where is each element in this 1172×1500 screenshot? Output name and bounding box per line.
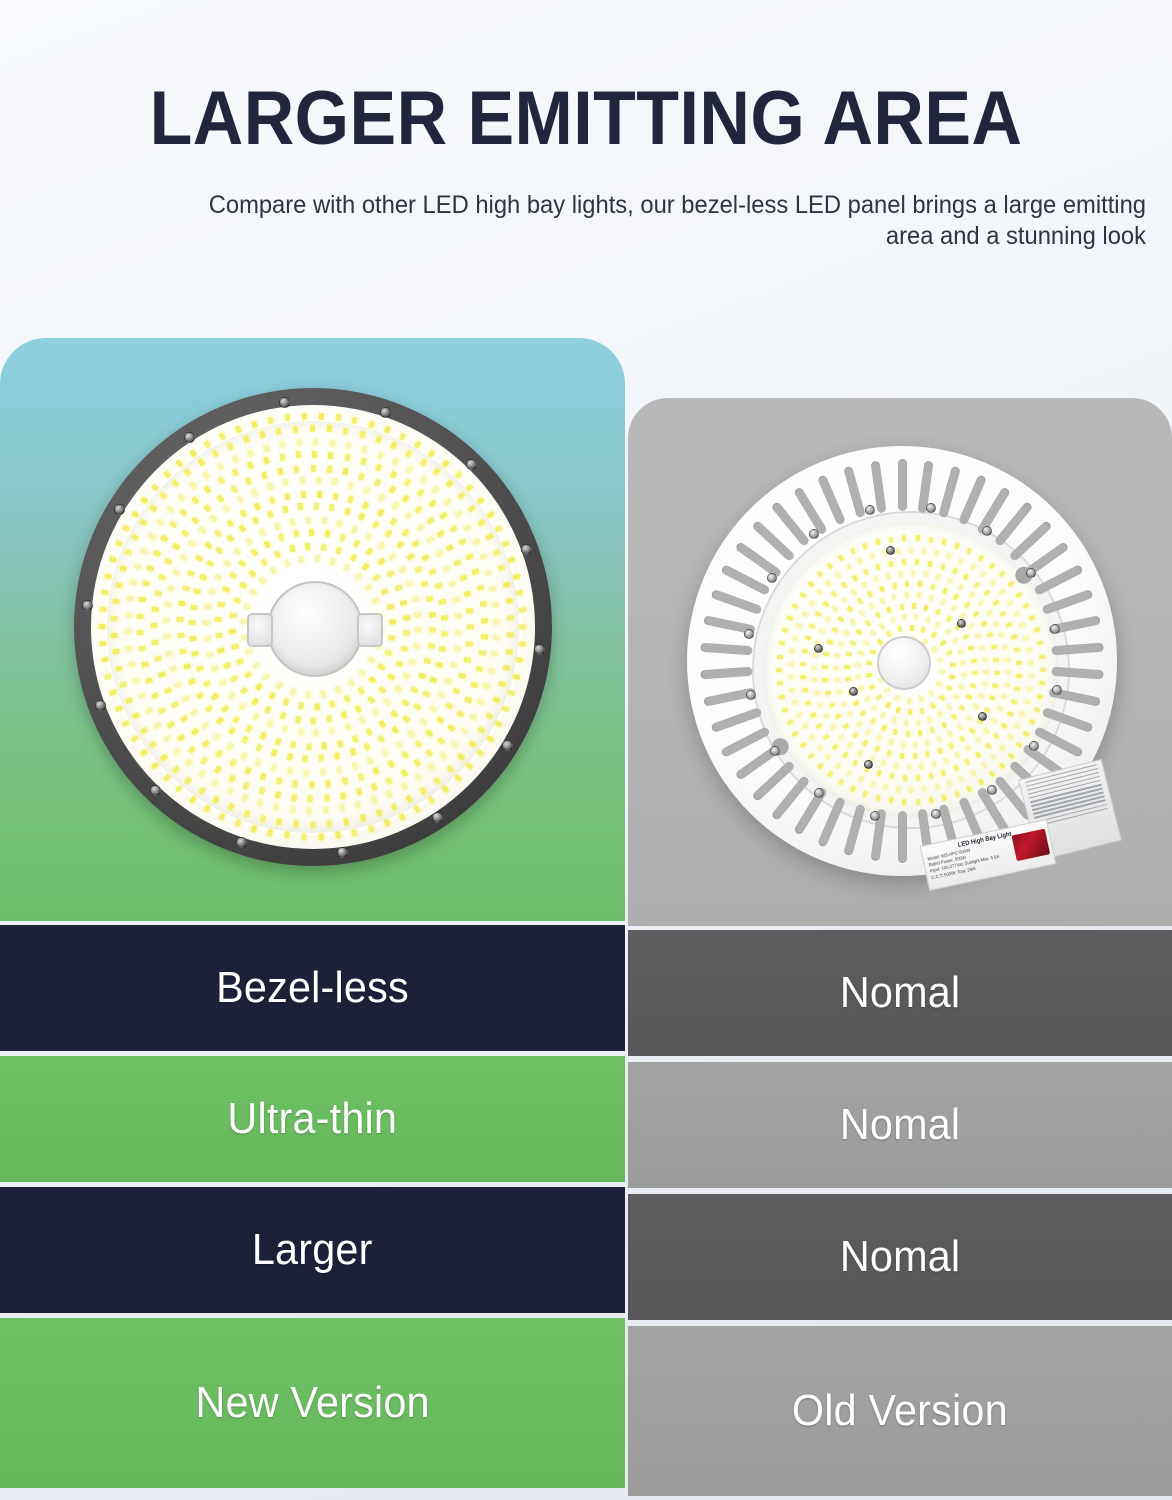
lamp-center-dome xyxy=(877,636,931,690)
comparison-label: Larger xyxy=(252,1225,373,1275)
lamp-center-dome xyxy=(267,581,363,677)
comparison-label: Nomal xyxy=(840,1232,960,1282)
bezel-less-lamp-image xyxy=(74,388,552,866)
certification-sticker xyxy=(1011,829,1050,862)
comparison-row: Bezel-less xyxy=(0,925,625,1051)
page-subtitle: Compare with other LED high bay lights, … xyxy=(196,190,1146,252)
comparison-row: New Version xyxy=(0,1318,625,1488)
comparison-label: Nomal xyxy=(840,1100,960,1150)
comparison-row: Nomal xyxy=(628,1194,1172,1320)
comparison-row: Old Version xyxy=(628,1326,1172,1496)
comparison-column-old: Nomal Nomal Nomal Old Version xyxy=(628,930,1172,1496)
comparison-row: Ultra-thin xyxy=(0,1056,625,1182)
comparison-row: Nomal xyxy=(628,930,1172,1056)
comparison-label: Nomal xyxy=(840,968,960,1018)
header: LARGER EMITTING AREA Compare with other … xyxy=(0,0,1172,330)
normal-lamp-image: LED High Bay Light Model: WS-HPC-500W Ra… xyxy=(687,446,1117,876)
comparison-label: New Version xyxy=(195,1378,429,1428)
product-panel-left xyxy=(0,338,625,921)
comparison-row: Larger xyxy=(0,1187,625,1313)
page-title: LARGER EMITTING AREA xyxy=(47,78,1125,160)
product-panel-right: LED High Bay Light Model: WS-HPC-500W Ra… xyxy=(628,398,1172,926)
comparison-row: Nomal xyxy=(628,1062,1172,1188)
comparison-column-new: Bezel-less Ultra-thin Larger New Version xyxy=(0,925,625,1488)
infographic-page: LARGER EMITTING AREA Compare with other … xyxy=(0,0,1172,1500)
comparison-label: Ultra-thin xyxy=(228,1094,398,1144)
comparison-label: Bezel-less xyxy=(216,963,409,1013)
comparison-label: Old Version xyxy=(792,1386,1008,1436)
